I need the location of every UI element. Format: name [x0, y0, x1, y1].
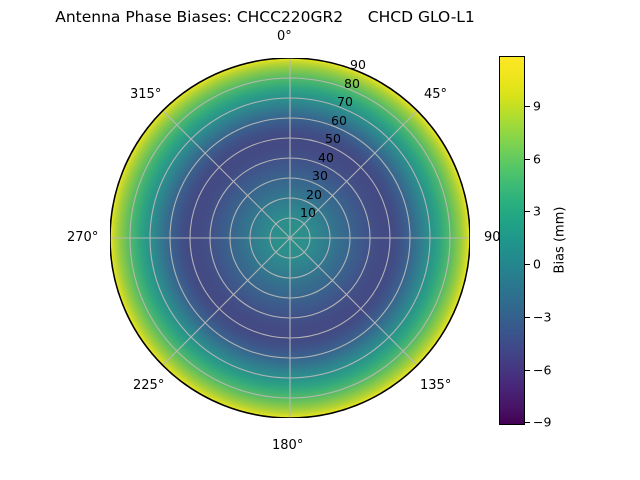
colorbar-gradient — [499, 56, 525, 425]
radial-tick-90: 90 — [350, 58, 366, 71]
radial-tick-40: 40 — [318, 151, 334, 164]
page-title: Antenna Phase Biases: CHCC220GR2 CHCD GL… — [0, 7, 530, 27]
colorbar-ticklabel-9: 9 — [533, 100, 541, 113]
angular-tick-315: 315° — [130, 88, 161, 102]
colorbar-tick-mark-6 — [525, 159, 530, 160]
colorbar-tick-mark-m9 — [525, 422, 530, 423]
colorbar-tick-mark-3 — [525, 211, 530, 212]
figure-canvas: Antenna Phase Biases: CHCC220GR2 CHCD GL… — [0, 0, 640, 480]
colorbar-ticklabel-3: 3 — [533, 205, 541, 218]
polar-plot[interactable] — [110, 58, 470, 418]
angular-tick-180: 180° — [272, 439, 303, 453]
radial-tick-60: 60 — [331, 114, 347, 127]
radial-tick-70: 70 — [337, 95, 353, 108]
colorbar[interactable]: 9 6 3 0 −3 −6 −9 — [499, 56, 525, 425]
angular-tick-270: 270° — [67, 231, 98, 245]
colorbar-tick-mark-9 — [525, 106, 530, 107]
polar-grid — [110, 58, 470, 418]
colorbar-tick-mark-0 — [525, 264, 530, 265]
radial-tick-30: 30 — [312, 169, 328, 182]
colorbar-tick-mark-m6 — [525, 370, 530, 371]
colorbar-ticklabel-6: 6 — [533, 152, 541, 165]
colorbar-axis-label: Bias (mm) — [553, 207, 568, 274]
colorbar-ticklabel-m9: −9 — [533, 416, 551, 429]
angular-tick-45: 45° — [424, 88, 447, 102]
angular-tick-135: 135° — [420, 379, 451, 393]
radial-tick-50: 50 — [325, 132, 341, 145]
angular-tick-225: 225° — [133, 379, 164, 393]
colorbar-ticklabel-m3: −3 — [533, 310, 551, 323]
angular-tick-0: 0° — [277, 30, 292, 44]
radial-tick-80: 80 — [344, 77, 360, 90]
colorbar-ticklabel-m6: −6 — [533, 363, 551, 376]
radial-tick-20: 20 — [306, 188, 322, 201]
radial-tick-10: 10 — [300, 206, 316, 219]
colorbar-ticklabel-0: 0 — [533, 258, 541, 271]
polar-plot-svg — [110, 58, 470, 418]
colorbar-tick-mark-m3 — [525, 317, 530, 318]
